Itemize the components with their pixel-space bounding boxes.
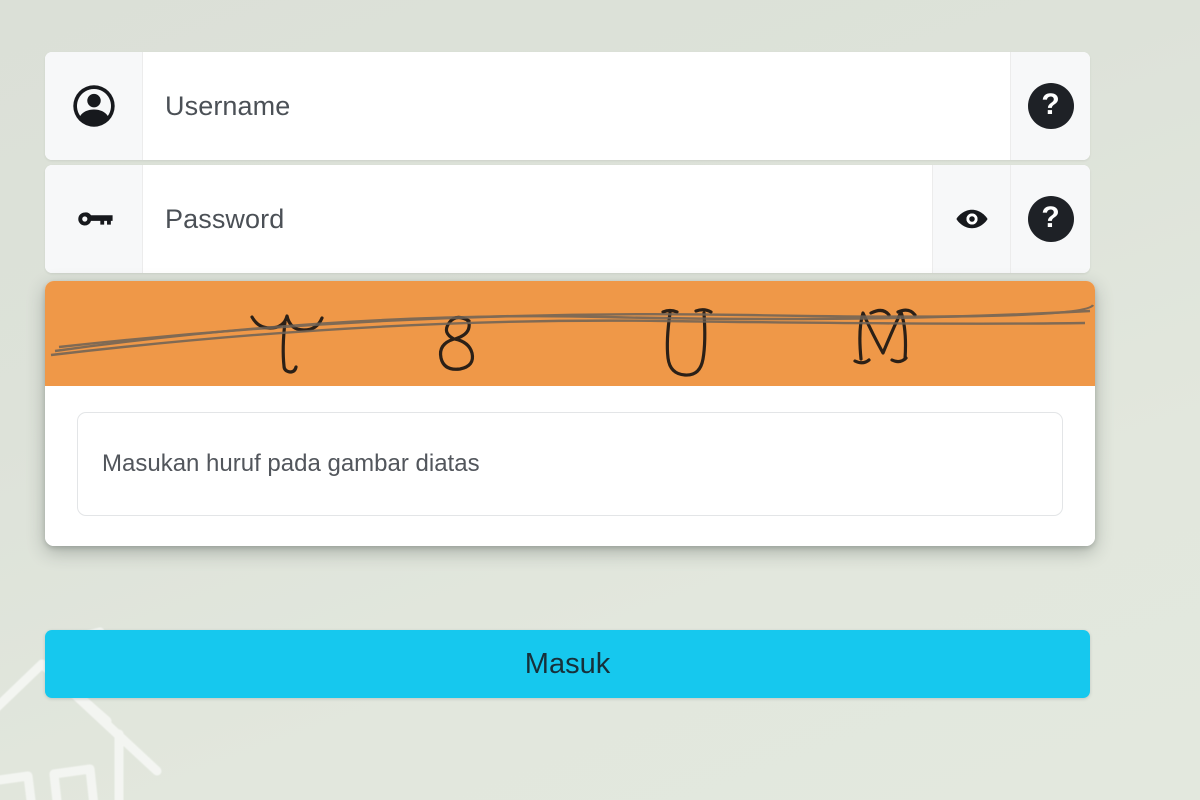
username-icon-gutter bbox=[45, 52, 143, 160]
question-mark-icon: ? bbox=[1028, 83, 1074, 129]
key-icon bbox=[71, 196, 117, 242]
username-input[interactable]: Username bbox=[143, 52, 1010, 160]
login-form: Username ? Password ? bbox=[45, 52, 1090, 273]
username-help-button[interactable]: ? bbox=[1010, 52, 1090, 160]
captcha-body: Masukan huruf pada gambar diatas bbox=[45, 386, 1095, 546]
password-help-button[interactable]: ? bbox=[1010, 165, 1090, 273]
eye-icon bbox=[955, 202, 989, 236]
captcha-card: Masukan huruf pada gambar diatas bbox=[45, 281, 1095, 546]
password-field-row[interactable]: Password ? bbox=[45, 165, 1090, 273]
captcha-challenge-image[interactable] bbox=[45, 281, 1095, 386]
submit-login-button[interactable]: Masuk bbox=[45, 630, 1090, 698]
toggle-password-visibility-button[interactable] bbox=[932, 165, 1010, 273]
username-field-row[interactable]: Username ? bbox=[45, 52, 1090, 160]
password-input[interactable]: Password bbox=[143, 165, 932, 273]
user-account-icon bbox=[71, 83, 117, 129]
question-mark-icon: ? bbox=[1028, 196, 1074, 242]
password-icon-gutter bbox=[45, 165, 143, 273]
captcha-glyphs bbox=[45, 281, 1095, 386]
captcha-answer-input[interactable]: Masukan huruf pada gambar diatas bbox=[77, 412, 1063, 516]
